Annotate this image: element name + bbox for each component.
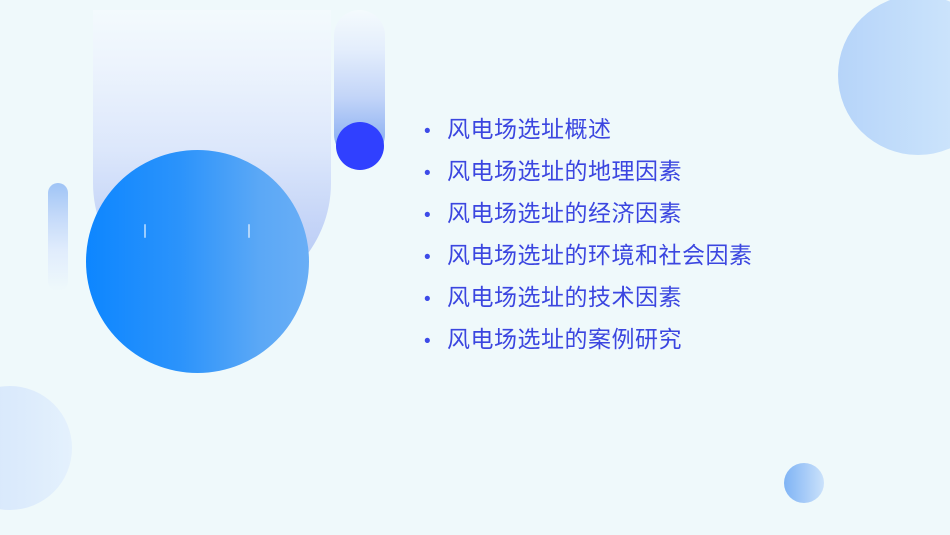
list-item-label: 风电场选址概述 <box>447 118 914 141</box>
large-blue-circle <box>86 150 309 373</box>
list-item[interactable]: • 风电场选址概述 <box>424 118 914 160</box>
list-item-label: 风电场选址的地理因素 <box>447 160 914 183</box>
list-item[interactable]: • 风电场选址的环境和社会因素 <box>424 244 914 286</box>
tick-mark-left <box>144 224 146 238</box>
list-item[interactable]: • 风电场选址的经济因素 <box>424 202 914 244</box>
solid-indigo-circle <box>336 122 384 170</box>
bullet-dot-icon: • <box>424 206 447 225</box>
bullet-dot-icon: • <box>424 164 447 183</box>
list-item[interactable]: • 风电场选址的技术因素 <box>424 286 914 328</box>
small-gradient-circle <box>784 463 824 503</box>
gradient-column-shape <box>93 10 331 302</box>
bullet-dot-icon: • <box>424 122 447 141</box>
pale-blue-circle <box>0 386 72 510</box>
bullet-dot-icon: • <box>424 248 447 267</box>
bullet-dot-icon: • <box>424 332 447 351</box>
list-item-label: 风电场选址的技术因素 <box>447 286 914 309</box>
list-item[interactable]: • 风电场选址的案例研究 <box>424 328 914 370</box>
bullet-dot-icon: • <box>424 290 447 309</box>
tick-mark-right <box>248 224 250 238</box>
gradient-pill-shape <box>334 10 385 160</box>
agenda-bullet-list: • 风电场选址概述 • 风电场选址的地理因素 • 风电场选址的经济因素 • 风电… <box>424 118 914 370</box>
fading-pill-shape <box>48 183 68 291</box>
list-item-label: 风电场选址的经济因素 <box>447 202 914 225</box>
presentation-slide: • 风电场选址概述 • 风电场选址的地理因素 • 风电场选址的经济因素 • 风电… <box>0 0 950 535</box>
list-item-label: 风电场选址的环境和社会因素 <box>447 244 914 267</box>
list-item[interactable]: • 风电场选址的地理因素 <box>424 160 914 202</box>
list-item-label: 风电场选址的案例研究 <box>447 328 914 351</box>
